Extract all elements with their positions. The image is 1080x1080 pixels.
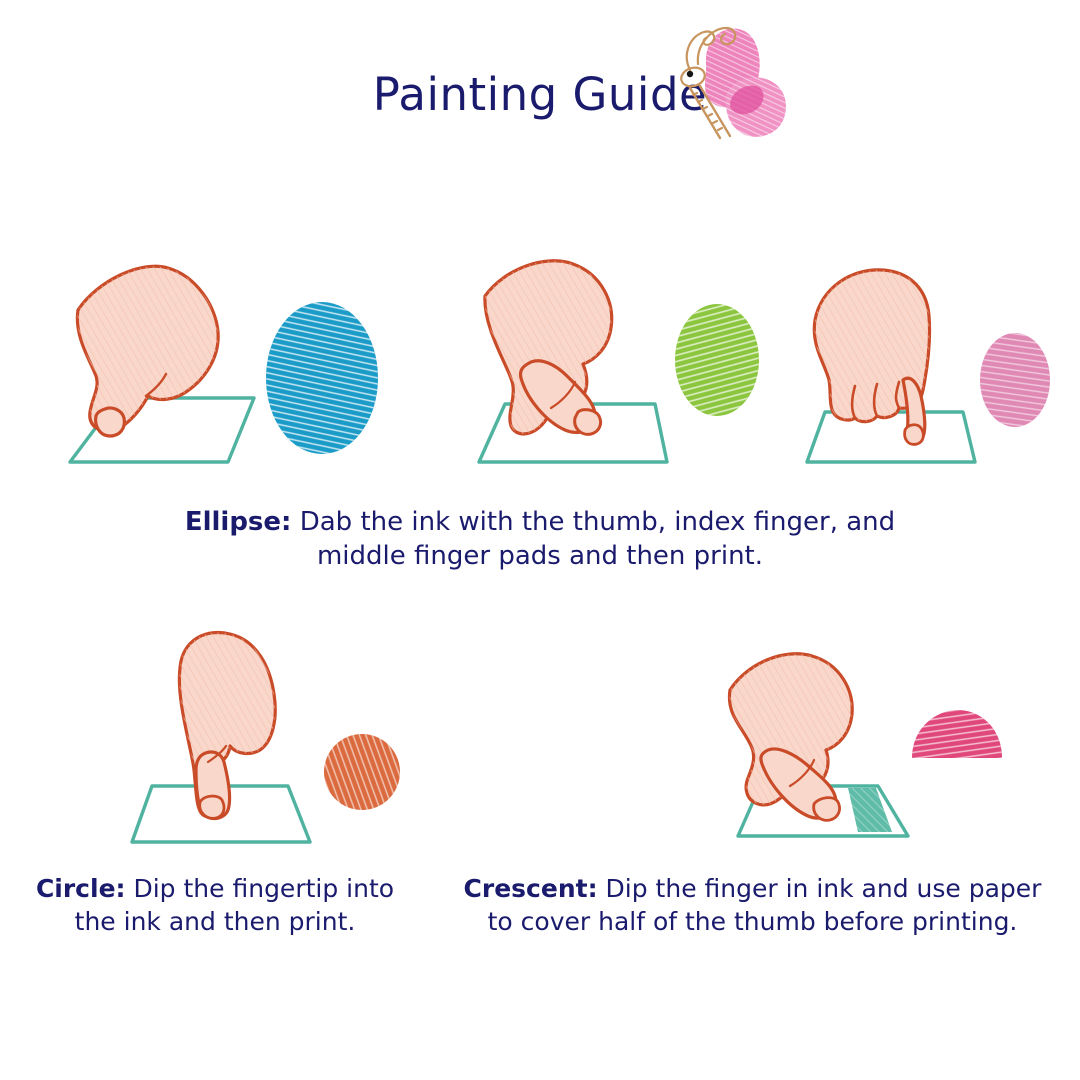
- page-title-block: Painting Guide: [0, 72, 1080, 117]
- caption-circle-line1: Dip the fingertip into: [133, 874, 394, 903]
- butterfly-lower-wing: [726, 77, 786, 137]
- caption-circle-line2: the ink and then print.: [0, 905, 430, 938]
- caption-crescent-line2: to cover half of the thumb before printi…: [425, 905, 1080, 938]
- figure-fingertip-dip: [110, 620, 450, 855]
- figure-half-covered-print: [700, 640, 1030, 855]
- figure-index-dab: [455, 250, 785, 480]
- pink-fingerprint-ellipse: [980, 333, 1050, 427]
- crimson-fingerprint-crescent: [912, 710, 1002, 758]
- butterfly-eye: [687, 71, 693, 77]
- figure-thumb-dab: [50, 250, 410, 480]
- caption-crescent: Crescent: Dip the finger in ink and use …: [425, 872, 1080, 938]
- caption-crescent-keyword: Crescent:: [464, 874, 598, 903]
- caption-ellipse-line1: Dab the ink with the thumb, index finger…: [300, 507, 895, 537]
- blue-fingerprint-ellipse: [266, 302, 378, 454]
- green-fingerprint-ellipse: [675, 304, 759, 416]
- hand-finger-at-paper-edge: [729, 654, 852, 821]
- ink-pad: [807, 412, 975, 462]
- caption-ellipse-keyword: Ellipse:: [185, 507, 292, 537]
- caption-ellipse-line2: middle finger pads and then print.: [90, 539, 990, 573]
- caption-ellipse: Ellipse: Dab the ink with the thumb, ind…: [90, 505, 990, 574]
- figure-middle-dab: [785, 250, 1080, 480]
- page-title: Painting Guide: [373, 72, 707, 117]
- painting-guide-poster: Painting Guide: [0, 0, 1080, 1080]
- caption-circle-keyword: Circle:: [36, 874, 126, 903]
- butterfly-fingerprint-icon: [660, 14, 800, 154]
- caption-circle: Circle: Dip the fingertip into the ink a…: [0, 872, 430, 938]
- orange-fingerprint-circle: [324, 734, 400, 810]
- caption-crescent-line1: Dip the finger in ink and use paper: [606, 874, 1042, 903]
